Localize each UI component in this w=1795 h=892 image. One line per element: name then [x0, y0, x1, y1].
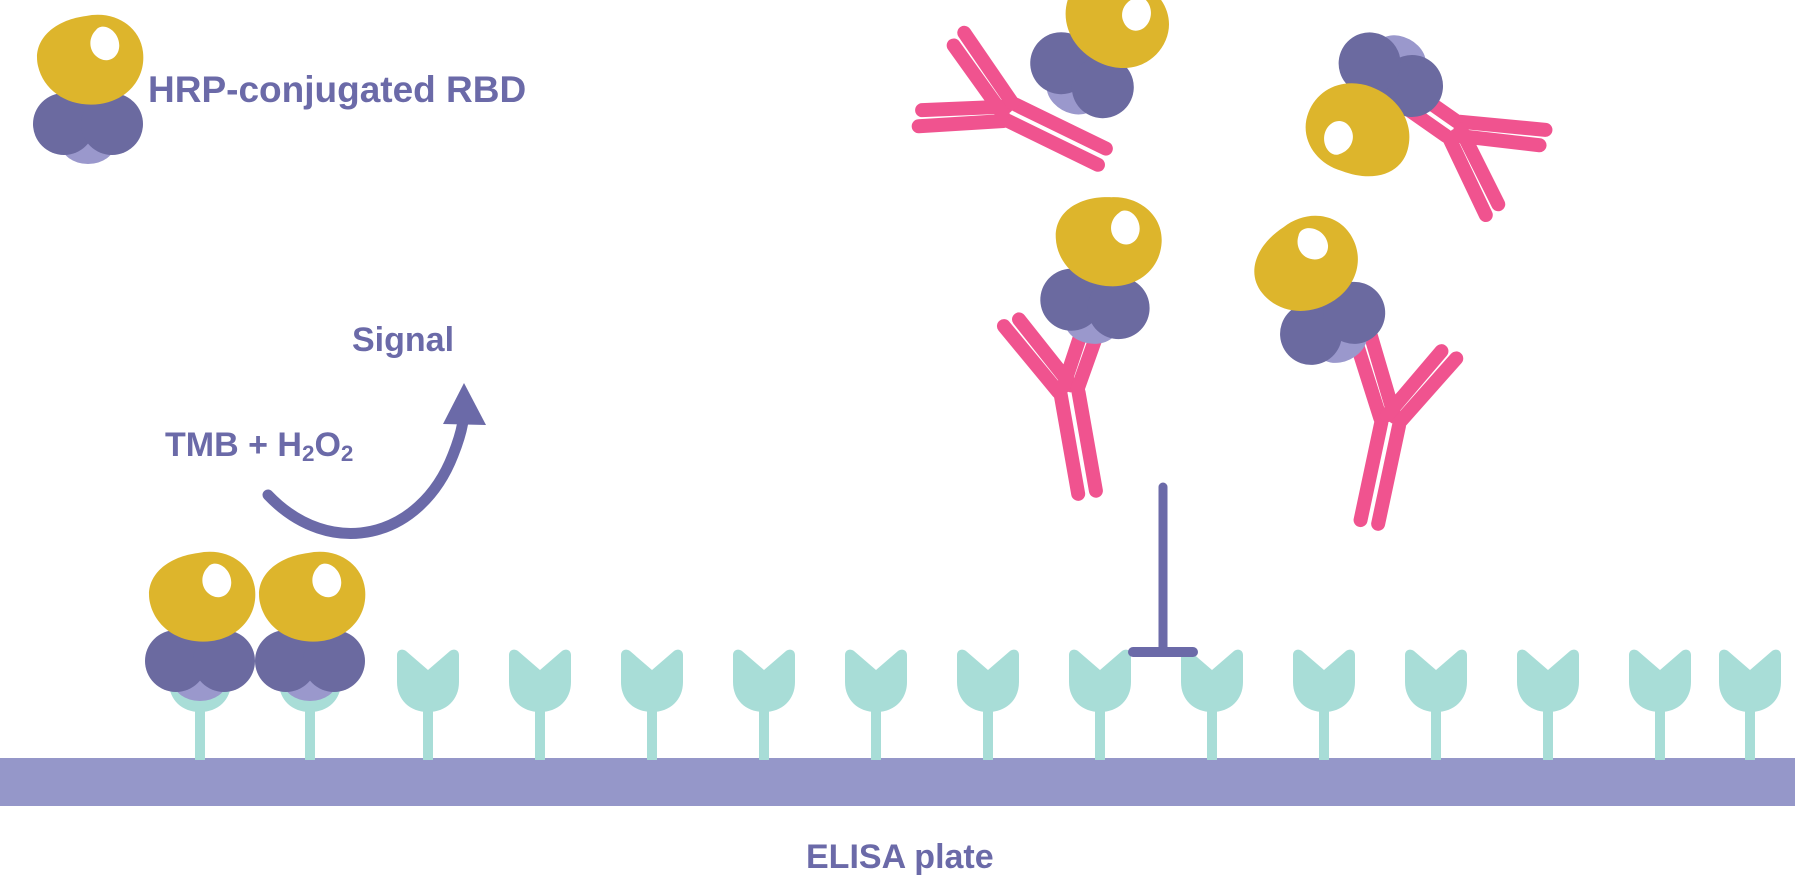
substrate-text-mid: O — [314, 426, 340, 464]
bound-rbd-hrp-left — [145, 552, 255, 701]
ace2-receptor — [845, 650, 907, 760]
antibody-rbd-complex-mid-right — [1235, 201, 1457, 533]
substrate-label: TMB + H2O2 — [165, 428, 353, 462]
neutralizing-antibody — [1318, 333, 1458, 533]
antibody-rbd-complex-top-right — [1291, 13, 1549, 217]
hrp-conjugated-rbd-icon — [33, 15, 143, 164]
ace2-receptor — [733, 650, 795, 760]
antibody-rbd-complex-mid-left — [1003, 187, 1168, 502]
ace2-receptor — [1181, 650, 1243, 760]
substrate-subscript-1: 2 — [302, 441, 314, 466]
substrate-subscript-2: 2 — [341, 441, 353, 466]
ace2-receptor — [1069, 650, 1131, 760]
ace2-receptor — [1719, 650, 1781, 760]
ace2-receptor — [509, 650, 571, 760]
antibody-rbd-complex-top-left — [915, 0, 1184, 204]
elisa-plate-label: ELISA plate — [806, 840, 994, 874]
receptor-row — [169, 650, 1781, 760]
diagram-canvas: HRP-conjugated RBD Signal TMB + H2O2 ELI… — [0, 0, 1795, 892]
elisa-plate-bar — [0, 758, 1795, 806]
ace2-receptor — [957, 650, 1019, 760]
signal-label: Signal — [352, 323, 454, 357]
inhibition-symbol — [1133, 487, 1193, 652]
ace2-receptor — [1293, 650, 1355, 760]
ace2-receptor — [1517, 650, 1579, 760]
ace2-receptor — [1405, 650, 1467, 760]
substrate-text-before: TMB + H — [165, 426, 302, 464]
rbd-hrp-conjugate — [1034, 187, 1169, 353]
ace2-receptor — [397, 650, 459, 760]
ace2-receptor — [621, 650, 683, 760]
legend-label: HRP-conjugated RBD — [148, 71, 526, 108]
rbd-hrp-conjugate — [1291, 13, 1458, 197]
ace2-receptor — [1629, 650, 1691, 760]
bound-rbd-hrp-right — [255, 552, 365, 701]
